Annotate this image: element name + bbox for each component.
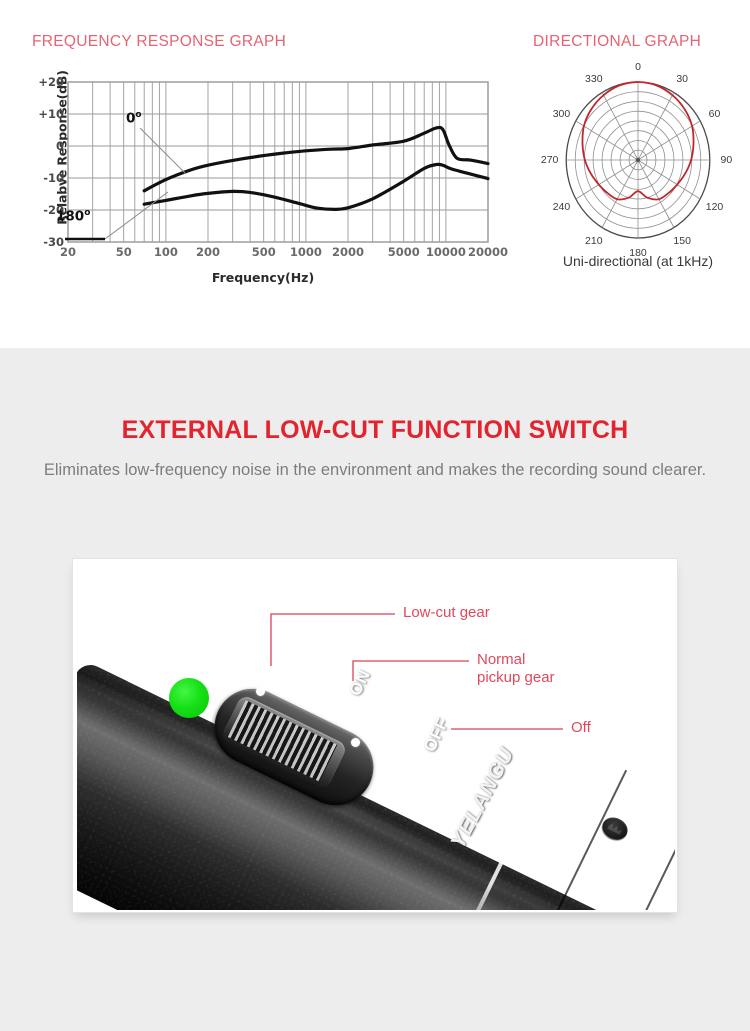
switch-position-dot-off — [429, 785, 438, 794]
polar-angle-label: 60 — [709, 108, 721, 120]
status-led-indicator — [169, 678, 209, 718]
low-cut-subtitle: Eliminates low-frequency noise in the en… — [0, 458, 750, 483]
callout-off: Off — [571, 719, 591, 737]
freq-response-svg — [68, 82, 488, 242]
low-cut-title: EXTERNAL LOW-CUT FUNCTION SWITCH — [0, 416, 750, 445]
barrel-ring-band — [581, 784, 672, 910]
freq-x-axis-label: Frequency(Hz) — [28, 270, 498, 285]
curve-label-0deg: 0o — [126, 110, 142, 127]
graphs-section: FREQUENCY RESPONSE GRAPH DIRECTIONAL GRA… — [0, 0, 750, 348]
frequency-response-heading: FREQUENCY RESPONSE GRAPH — [32, 33, 286, 51]
polar-angle-label: 330 — [585, 73, 603, 85]
polar-angle-label: 30 — [676, 73, 688, 85]
freq-x-tick: 20 — [60, 245, 76, 259]
freq-x-tick: 200 — [196, 245, 220, 259]
barrel-seam — [623, 803, 675, 910]
directional-graph-heading: DIRECTIONAL GRAPH — [533, 33, 701, 51]
freq-x-tick: 100 — [154, 245, 178, 259]
freq-x-tick: 2000 — [332, 245, 364, 259]
freq-x-tick: 50 — [116, 245, 132, 259]
freq-x-tick: 500 — [252, 245, 276, 259]
polar-svg — [548, 72, 728, 247]
polar-angle-label: 150 — [673, 235, 691, 247]
callout-normal-pickup-gear: Normal pickup gear — [477, 651, 555, 687]
product-photo-card: ON OFF YELANGU Low-cut gear Normal picku… — [72, 558, 678, 913]
curve-label-180deg: 180o — [56, 208, 90, 225]
product-photo: ON OFF YELANGU Low-cut gear Normal picku… — [77, 563, 675, 910]
switch-label-on: ON — [345, 667, 375, 700]
freq-plot-area: +20+100-10-20-30 20501002005001000200050… — [68, 82, 488, 242]
polar-chart-caption: Uni-directional (at 1kHz) — [530, 253, 746, 271]
polar-center-dot — [636, 158, 640, 162]
polar-angle-label: 270 — [541, 154, 559, 166]
freq-plot-frame — [68, 82, 488, 242]
low-cut-filter-icon — [265, 637, 301, 685]
polar-angle-label: 120 — [706, 201, 724, 213]
freq-y-tick: -10 — [43, 171, 64, 185]
freq-x-tick: 10000 — [426, 245, 466, 259]
polar-angle-label: 90 — [721, 154, 733, 166]
low-cut-feature-section: EXTERNAL LOW-CUT FUNCTION SWITCH Elimina… — [0, 348, 750, 1031]
polar-angle-label: 210 — [585, 235, 603, 247]
polar-angle-label: 0 — [635, 61, 641, 73]
frequency-response-chart: Relabve Response(dB) +20+100-10-20-30 20… — [28, 78, 498, 293]
freq-y-tick: +20 — [38, 75, 64, 89]
freq-y-tick: +10 — [38, 107, 64, 121]
freq-x-tick: 5000 — [388, 245, 420, 259]
freq-x-tick: 20000 — [468, 245, 508, 259]
polar-angle-label: 300 — [553, 108, 571, 120]
switch-position-dot-on — [351, 738, 360, 747]
callout-low-cut-gear: Low-cut gear — [403, 604, 490, 622]
switch-label-off: OFF — [420, 715, 454, 756]
freq-y-tick: 0 — [56, 139, 64, 153]
freq-x-tick: 1000 — [290, 245, 322, 259]
switch-position-dot-lowcut — [256, 687, 265, 696]
brand-logo-text: YELANGU — [446, 743, 519, 852]
directional-polar-chart: 0306090120150180210240270300330 — [548, 72, 728, 247]
polar-angle-label: 240 — [553, 201, 571, 213]
microphone-barrel — [77, 660, 675, 910]
